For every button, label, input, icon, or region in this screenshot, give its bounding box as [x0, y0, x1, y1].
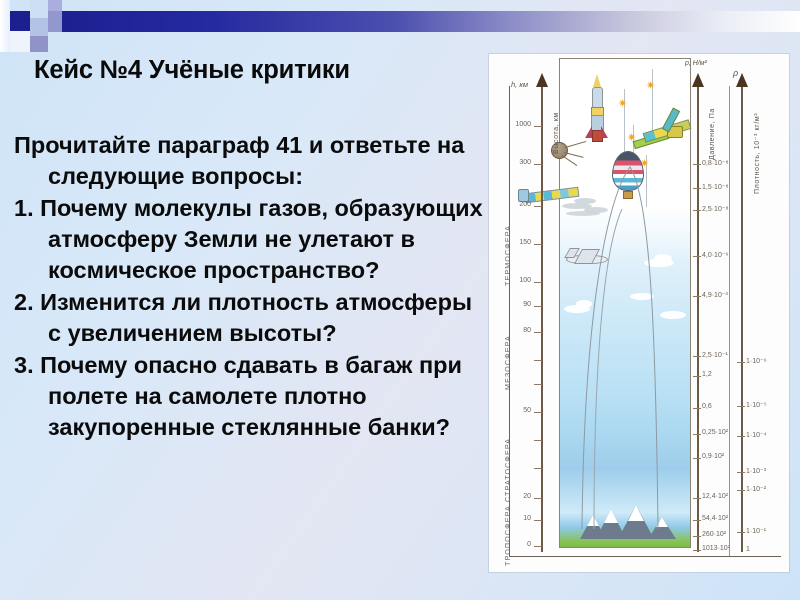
pressure-value: 4,0·10⁻⁶: [702, 251, 728, 259]
density-axis-label: Плотность, 10⁻³ кг/м³: [753, 113, 761, 194]
pressure-value: 1,2: [702, 371, 712, 378]
rocket-nose: [593, 74, 601, 87]
height-tick: [534, 546, 542, 547]
density-value: 1·10⁻⁶: [746, 357, 767, 365]
pressure-value: 12,4·10²: [702, 493, 728, 500]
header-square-pale: [48, 0, 62, 11]
height-axis-arrow: [536, 73, 548, 87]
density-tick: [737, 490, 745, 491]
density-axis-line: [741, 86, 743, 552]
height-tick: [534, 520, 542, 521]
density-value: 1: [746, 546, 750, 553]
height-tick: [534, 412, 542, 413]
pressure-tick: [693, 210, 701, 211]
atmosphere-diagram: ✷ ✷ ✷ ✷: [489, 54, 789, 572]
height-tick: [534, 282, 542, 283]
height-tick-label: 1000: [497, 121, 531, 128]
height-tick: [534, 440, 542, 441]
density-tick: [737, 362, 745, 363]
height-tick: [534, 126, 542, 127]
pressure-tick: [693, 520, 701, 521]
pressure-axis-symbol: p, Н/м²: [685, 60, 707, 67]
pressure-tick: [693, 256, 701, 257]
rocket-fin-right: [601, 126, 608, 138]
density-value: 1·10⁻¹: [746, 527, 766, 535]
density-tick: [737, 436, 745, 437]
header-gradient-bar: [48, 11, 800, 32]
height-tick: [534, 206, 542, 207]
height-tick: [534, 384, 542, 385]
pressure-value: 0,8·10⁻⁸: [702, 159, 729, 167]
height-tick-label: 300: [497, 159, 531, 166]
density-value: 1·10⁻³: [746, 467, 766, 475]
pressure-value: 4,9·10⁻³: [702, 291, 728, 299]
pressure-tick: [693, 376, 701, 377]
question-2: 2. Изменится ли плотность атмосферы с ув…: [14, 287, 490, 350]
header-square-violet: [30, 36, 48, 52]
pressure-value: 0,25·10²: [702, 429, 728, 436]
layer-label-mesosphere: МЕЗОСФЕРА: [503, 335, 512, 390]
height-tick: [534, 360, 542, 361]
header-square-light: [30, 0, 48, 18]
slide-header-decoration: [0, 0, 800, 60]
density-axis-symbol: ρ: [733, 68, 738, 78]
height-axis-symbol: h, км: [511, 80, 528, 89]
column-separator: [729, 86, 730, 556]
pressure-tick: [693, 434, 701, 435]
pressure-tick: [693, 458, 701, 459]
page-title: Кейс №4 Учёные критики: [34, 56, 484, 85]
pressure-tick: [693, 536, 701, 537]
density-tick: [737, 406, 745, 407]
pressure-value: 2,5·10⁻¹: [702, 351, 728, 359]
height-tick-label: 90: [497, 301, 531, 308]
header-square-navy: [10, 11, 30, 31]
height-tick-label: 50: [497, 407, 531, 414]
pressure-value: 0,6: [702, 403, 712, 410]
density-tick: [737, 532, 745, 533]
header-square-white: [10, 31, 30, 52]
density-value: 1·10⁻⁵: [746, 401, 767, 409]
height-axis-label: Высота, км: [553, 112, 560, 154]
pressure-value: 260·10²: [702, 531, 726, 538]
pressure-axis-line: [697, 86, 699, 552]
height-tick-label: 200: [497, 201, 531, 208]
header-gradient-edge: [0, 0, 10, 52]
pressure-tick: [693, 498, 701, 499]
question-1: 1. Почему молекулы газов, образующих атм…: [14, 193, 490, 287]
intro-paragraph: Прочитайте параграф 41 и ответьте на сле…: [14, 130, 490, 193]
pressure-value: 1,5·10⁻⁸: [702, 183, 729, 191]
height-axis-line: [541, 86, 543, 552]
pressure-tick: [693, 164, 701, 165]
height-tick: [534, 468, 542, 469]
pressure-tick: [693, 296, 701, 297]
questions-block: Прочитайте параграф 41 и ответьте на сле…: [14, 130, 490, 444]
height-tick-label: 80: [497, 327, 531, 334]
rocket-fin-left: [585, 126, 592, 138]
height-tick: [534, 498, 542, 499]
height-tick: [534, 306, 542, 307]
header-square-blue: [48, 11, 62, 32]
question-3: 3. Почему опасно сдавать в багаж при пол…: [14, 350, 490, 444]
height-tick: [534, 332, 542, 333]
density-value: 1·10⁻⁴: [746, 431, 767, 439]
pressure-value: 54,4·10²: [702, 515, 728, 522]
pressure-axis-arrow: [692, 73, 704, 87]
pressure-tick: [693, 550, 701, 551]
layer-label-stratosphere: СТРАТОСФЕРА: [503, 438, 512, 502]
header-square-mid: [30, 18, 48, 36]
height-tick: [534, 244, 542, 245]
density-value: 1·10⁻²: [746, 485, 766, 493]
pressure-axis-label: Давление, Па: [709, 108, 716, 160]
pressure-tick: [693, 188, 701, 189]
pressure-tick: [693, 408, 701, 409]
density-tick: [737, 472, 745, 473]
diagram-left-border: [509, 86, 510, 556]
height-tick: [534, 164, 542, 165]
pressure-value: 1013·10²: [702, 545, 730, 552]
pressure-tick: [693, 356, 701, 357]
diagram-baseline: [509, 556, 781, 557]
pressure-value: 0,9·10²: [702, 453, 724, 460]
layer-label-thermosphere: ТЕРМОСФЕРА: [503, 225, 512, 286]
pressure-value: 2,5·10⁻⁸: [702, 205, 729, 213]
